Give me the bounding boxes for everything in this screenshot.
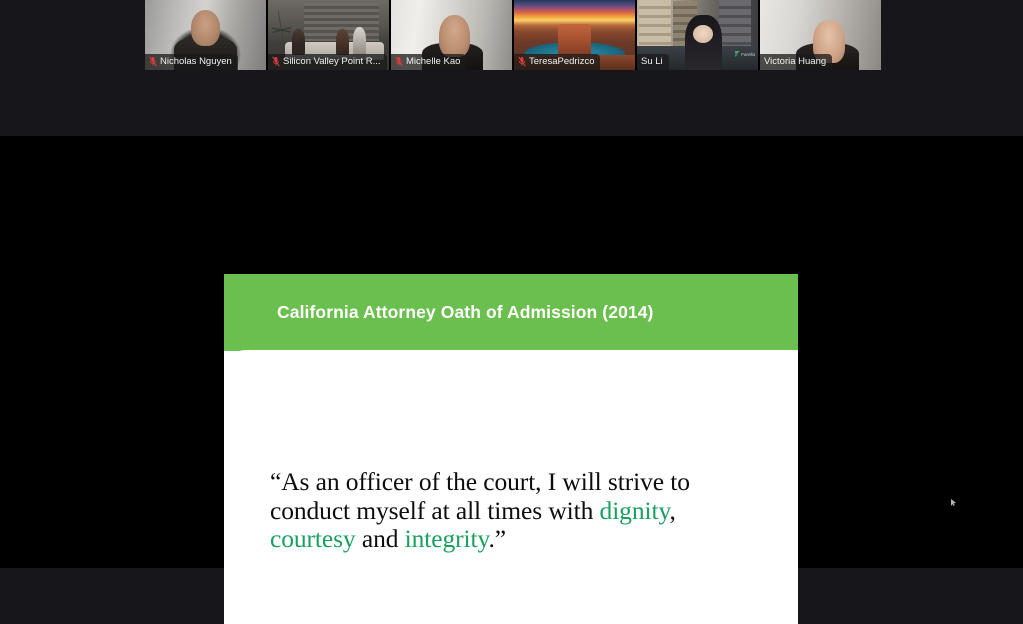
watermark-label: Farella [741, 52, 755, 57]
microphone-muted-icon [272, 56, 280, 67]
participant-name: Victoria Huang [764, 55, 826, 68]
quote-segment-4: .” [489, 524, 507, 553]
participant-name-bar: Michelle Kao [391, 54, 466, 70]
scene-person [336, 29, 349, 54]
microphone-muted-icon [395, 56, 403, 67]
quote-highlight-courtesy: courtesy [270, 524, 356, 553]
participant-filmstrip: Nicholas Nguyen Silicon Valley P [145, 0, 880, 70]
participant-name-bar: Silicon Valley Point R... [268, 54, 387, 70]
slide-title: California Attorney Oath of Admission (2… [224, 302, 654, 323]
microphone-muted-icon [518, 56, 526, 67]
video-conference-window: Nicholas Nguyen Silicon Valley P [0, 0, 1023, 624]
participant-name-bar: Nicholas Nguyen [145, 54, 238, 70]
shared-screen-canvas: California Attorney Oath of Admission (2… [0, 136, 1023, 568]
participant-tile-victoria-huang[interactable]: Victoria Huang [760, 0, 881, 70]
participant-tile-su-li[interactable]: Farella Su Li [637, 0, 758, 70]
scene-building [639, 0, 670, 52]
participant-watermark: Farella [735, 51, 755, 57]
participant-name: Michelle Kao [406, 55, 460, 68]
microphone-muted-icon [149, 56, 157, 67]
participant-name-bar: Victoria Huang [760, 54, 832, 70]
quote-highlight-integrity: integrity [405, 524, 489, 553]
participant-name: Nicholas Nguyen [160, 55, 232, 68]
participant-name: Silicon Valley Point R... [283, 55, 381, 68]
quote-highlight-dignity: dignity [600, 496, 670, 525]
scene-person [292, 29, 305, 54]
participant-tile-nicholas-nguyen[interactable]: Nicholas Nguyen [145, 0, 266, 70]
slide-header-band: California Attorney Oath of Admission (2… [224, 274, 798, 351]
slide-body: “As an officer of the court, I will stri… [224, 350, 798, 624]
presentation-slide: California Attorney Oath of Admission (2… [224, 274, 798, 624]
participant-name: Su Li [641, 55, 663, 68]
quote-segment-2: , [669, 496, 675, 525]
scene-person [353, 27, 366, 55]
participant-tile-teresa-pedrizco[interactable]: TeresaPedrizco [514, 0, 635, 70]
slide-quote: “As an officer of the court, I will stri… [270, 468, 730, 554]
participant-name-bar: TeresaPedrizco [514, 54, 600, 70]
participant-name-bar: Su Li [637, 54, 669, 70]
mouse-pointer-artifact [951, 499, 956, 506]
participant-name: TeresaPedrizco [529, 55, 594, 68]
participant-tile-silicon-valley-point-room[interactable]: Silicon Valley Point R... [268, 0, 389, 70]
participant-tile-michelle-kao[interactable]: Michelle Kao [391, 0, 512, 70]
quote-segment-3: and [356, 524, 405, 553]
farella-f-mark-icon [735, 51, 740, 57]
